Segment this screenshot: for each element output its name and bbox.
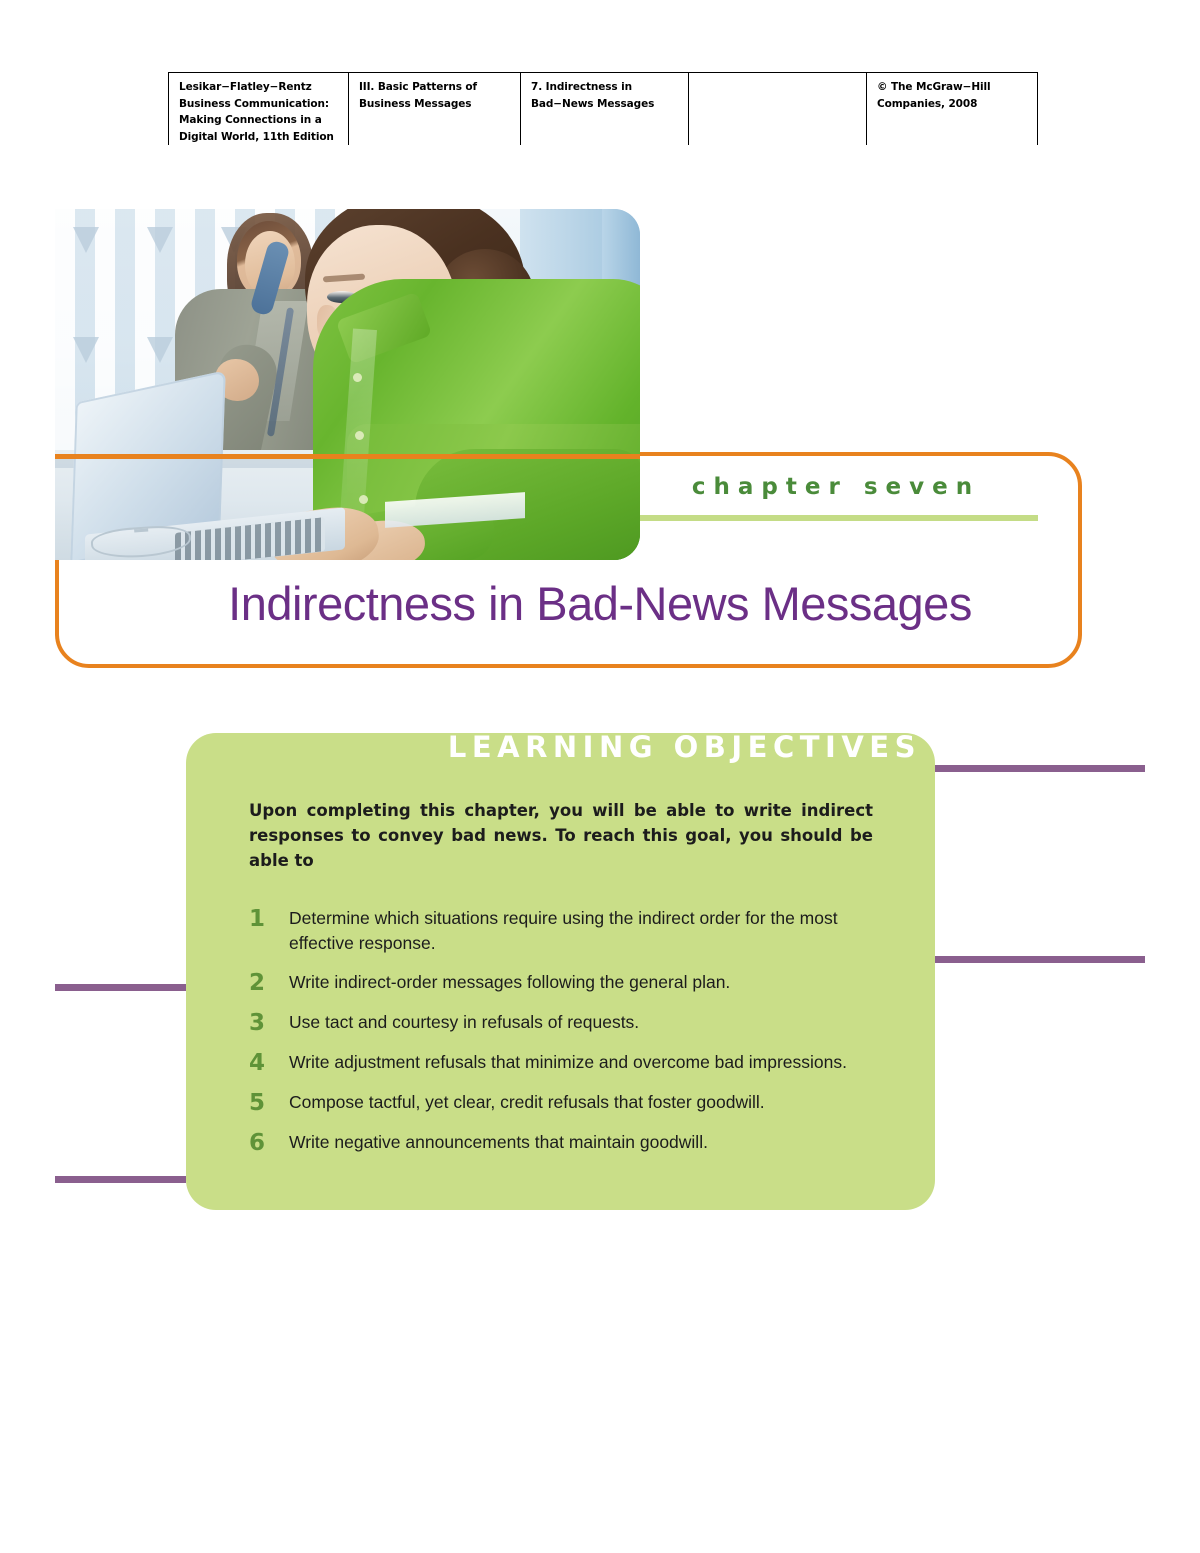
decorative-rule-right (935, 765, 1145, 772)
list-item-number: 3 (249, 1010, 289, 1036)
learning-objectives-list: 1 Determine which situations require usi… (249, 906, 879, 1170)
blind-detail (73, 227, 99, 253)
learning-objectives-intro: Upon completing this chapter, you will b… (249, 798, 873, 873)
list-item: 3 Use tact and courtesy in refusals of r… (249, 1010, 879, 1036)
running-header-col-chapter: 7. Indirectness in Bad−News Messages (520, 73, 688, 145)
header-text-line: Business Communication: (179, 96, 348, 113)
list-item-number: 4 (249, 1050, 289, 1076)
shirt-button (355, 431, 364, 440)
running-header-col-book: Lesikar−Flatley−Rentz Business Communica… (168, 73, 348, 145)
list-item-number: 5 (249, 1090, 289, 1116)
shirt-button (353, 373, 362, 382)
header-text-line: Lesikar−Flatley−Rentz (179, 79, 348, 96)
running-header-columns: Lesikar−Flatley−Rentz Business Communica… (168, 73, 1038, 145)
decorative-rule-left (55, 984, 186, 991)
running-header: Lesikar−Flatley−Rentz Business Communica… (168, 72, 1038, 101)
blind-detail (147, 227, 173, 253)
decorative-rule-right (935, 956, 1145, 963)
running-header-col-empty (688, 73, 866, 145)
orange-accent-line (55, 454, 640, 459)
list-item-number: 2 (249, 970, 289, 996)
header-text-line: 7. Indirectness in (531, 79, 688, 96)
header-text-line: Making Connections in a (179, 112, 348, 129)
list-item: 4 Write adjustment refusals that minimiz… (249, 1050, 879, 1076)
shirt-button (359, 495, 368, 504)
list-item: 6 Write negative announcements that main… (249, 1130, 879, 1156)
list-item: 5 Compose tactful, yet clear, credit ref… (249, 1090, 879, 1116)
chapter-cover-photo (55, 209, 640, 560)
header-text-line: © The McGraw−Hill (877, 79, 1037, 96)
page-title: Indirectness in Bad-News Messages (150, 576, 1050, 631)
chapter-label-underline (636, 515, 1038, 521)
header-text-line: Bad−News Messages (531, 96, 688, 113)
header-text-line: Business Messages (359, 96, 520, 113)
list-item-text: Write adjustment refusals that minimize … (289, 1050, 879, 1075)
header-text-line: III. Basic Patterns of (359, 79, 520, 96)
blind-detail (147, 337, 173, 363)
list-item-text: Write indirect-order messages following … (289, 970, 879, 995)
list-item-text: Write negative announcements that mainta… (289, 1130, 879, 1155)
list-item: 2 Write indirect-order messages followin… (249, 970, 879, 996)
running-header-col-copyright: © The McGraw−Hill Companies, 2008 (866, 73, 1038, 145)
list-item-number: 1 (249, 906, 289, 932)
list-item-text: Compose tactful, yet clear, credit refus… (289, 1090, 879, 1115)
chapter-number-label: chapter seven (636, 474, 1036, 500)
learning-objectives-heading: LEARNING OBJECTIVES (186, 730, 935, 764)
list-item: 1 Determine which situations require usi… (249, 906, 879, 956)
header-text-line: Companies, 2008 (877, 96, 1037, 113)
list-item-text: Determine which situations require using… (289, 906, 879, 956)
decorative-rule-left (55, 1176, 186, 1183)
blind-detail (73, 337, 99, 363)
running-header-col-part: III. Basic Patterns of Business Messages (348, 73, 520, 145)
list-item-number: 6 (249, 1130, 289, 1156)
header-text-line: Digital World, 11th Edition (179, 129, 348, 146)
list-item-text: Use tact and courtesy in refusals of req… (289, 1010, 879, 1035)
